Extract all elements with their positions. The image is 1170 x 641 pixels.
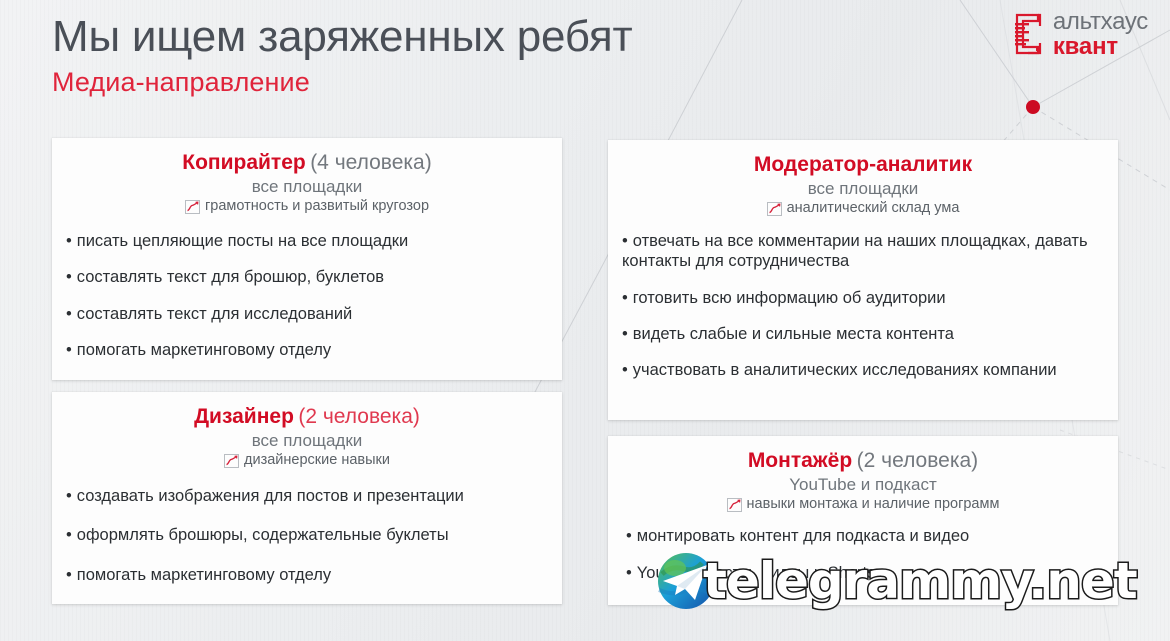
card-header: Монтажёр (2 человека) YouTube и подкаст … (622, 449, 1104, 513)
slide-header: Мы ищем заряженных ребят Медиа-направлен… (52, 14, 632, 98)
chart-increasing-icon (185, 200, 200, 214)
duty-text: отвечать на все комментарии на наших пло… (622, 232, 1088, 270)
chart-increasing-icon (767, 202, 782, 216)
page-subtitle: Медиа-направление (52, 67, 632, 98)
role-title-line: Копирайтер (4 человека) (66, 151, 548, 175)
duty-text: участвовать в аналитических исследования… (633, 361, 1057, 379)
list-item: •оформлять брошюры, содержательные букле… (66, 525, 548, 545)
role-count: (2 человека) (298, 405, 420, 428)
duty-text: оформлять брошюры, содержательные буклет… (77, 526, 449, 544)
duty-text: видеть слабые и сильные места контента (633, 325, 954, 343)
list-item: •видеть слабые и сильные места контента (622, 324, 1104, 344)
role-card-copywriter[interactable]: Копирайтер (4 человека) все площадки гра… (52, 138, 562, 380)
brackets-document-icon (1004, 13, 1044, 55)
duty-text: монтировать контент для подкаста и видео (637, 527, 969, 545)
role-count: (2 человека) (857, 449, 979, 472)
duty-text: готовить всю информацию об аудитории (633, 289, 946, 307)
role-card-moderator-analyst[interactable]: Модератор-аналитик все площадки аналитич… (608, 140, 1118, 420)
card-header: Дизайнер (2 человека) все площадки дизай… (66, 405, 548, 469)
duty-list: •писать цепляющие посты на все площадки … (66, 231, 548, 360)
role-skill-text: дизайнерские навыки (244, 452, 390, 469)
role-title-line: Дизайнер (2 человека) (66, 405, 548, 429)
role-platforms: YouTube и подкаст (622, 475, 1104, 495)
list-item: •создавать изображения для постов и през… (66, 486, 548, 506)
duty-list: •отвечать на все комментарии на наших пл… (622, 231, 1104, 380)
duty-text: составлять текст для исследований (77, 305, 352, 323)
role-name: Дизайнер (194, 405, 294, 428)
card-header: Копирайтер (4 человека) все площадки гра… (66, 151, 548, 215)
role-count: (4 человека) (310, 151, 432, 174)
slide-canvas: Мы ищем заряженных ребят Медиа-направлен… (0, 0, 1170, 641)
list-item: •отвечать на все комментарии на наших пл… (622, 231, 1104, 271)
duty-text: писать цепляющие посты на все площадки (77, 232, 408, 250)
role-skill-row: грамотность и развитый кругозор (66, 198, 548, 215)
duty-text: помогать маркетинговому отделу (77, 566, 331, 584)
chart-increasing-icon (224, 454, 239, 468)
role-skill-text: грамотность и развитый кругозор (205, 198, 429, 215)
role-skill-row: дизайнерские навыки (66, 452, 548, 469)
role-skill-text: навыки монтажа и наличие программ (747, 496, 1000, 513)
duty-list: •создавать изображения для постов и през… (66, 486, 548, 584)
list-item: •участвовать в аналитических исследовани… (622, 360, 1104, 380)
role-platforms: все площадки (622, 179, 1104, 199)
role-card-video-editor[interactable]: Монтажёр (2 человека) YouTube и подкаст … (608, 436, 1118, 605)
list-item: •YouTube посты, рилсы и Shorts (622, 563, 1104, 583)
page-title: Мы ищем заряженных ребят (52, 14, 632, 61)
list-item: •составлять текст для исследований (66, 304, 548, 324)
role-skill-row: навыки монтажа и наличие программ (622, 496, 1104, 513)
list-item: •составлять текст для брошюр, буклетов (66, 267, 548, 287)
logo-text-bottom: квант (1053, 35, 1148, 59)
role-name: Монтажёр (748, 449, 852, 472)
role-platforms: все площадки (66, 431, 548, 451)
list-item: •готовить всю информацию об аудитории (622, 288, 1104, 308)
role-title-line: Модератор-аналитик (622, 153, 1104, 177)
logo-text-top: альтхаус (1053, 10, 1148, 34)
role-card-designer[interactable]: Дизайнер (2 человека) все площадки дизай… (52, 392, 562, 604)
duty-text: помогать маркетинговому отделу (77, 341, 331, 359)
list-item: •монтировать контент для подкаста и виде… (622, 526, 1104, 546)
duty-text: создавать изображения для постов и презе… (77, 487, 464, 505)
role-name: Копирайтер (182, 151, 305, 174)
card-header: Модератор-аналитик все площадки аналитич… (622, 153, 1104, 217)
list-item: •писать цепляющие посты на все площадки (66, 231, 548, 251)
duty-text: YouTube посты, рилсы и Shorts (637, 564, 876, 582)
company-logo: альтхаус квант (1004, 8, 1148, 59)
role-skill-text: аналитический склад ума (787, 200, 960, 217)
chart-increasing-icon (727, 498, 742, 512)
list-item: •помогать маркетинговому отделу (66, 340, 548, 360)
role-name: Модератор-аналитик (754, 153, 972, 176)
role-skill-row: аналитический склад ума (622, 200, 1104, 217)
duty-text: составлять текст для брошюр, буклетов (77, 268, 384, 286)
duty-list: •монтировать контент для подкаста и виде… (622, 526, 1104, 583)
red-node-dot (1026, 100, 1040, 114)
list-item: •помогать маркетинговому отделу (66, 565, 548, 585)
role-title-line: Монтажёр (2 человека) (622, 449, 1104, 473)
role-platforms: все площадки (66, 177, 548, 197)
